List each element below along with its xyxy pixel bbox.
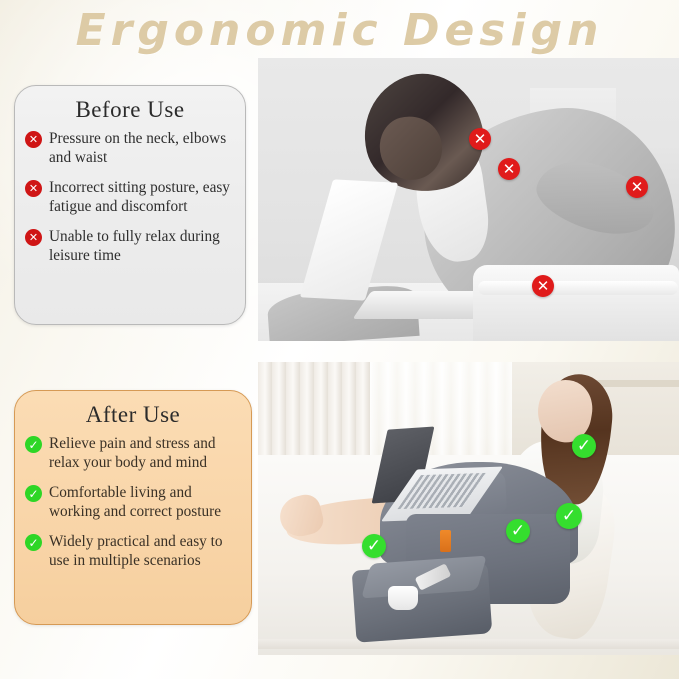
x-circle-icon: ✕ xyxy=(25,229,42,246)
before-use-panel: Before Use ✕ Pressure on the neck, elbow… xyxy=(14,85,246,325)
pain-marker-waist-icon: ✕ xyxy=(532,275,554,297)
before-use-title: Before Use xyxy=(15,97,245,123)
check-circle-icon: ✓ xyxy=(25,534,42,551)
x-glyph: ✕ xyxy=(474,132,487,147)
x-circle-icon: ✕ xyxy=(25,180,42,197)
bed-edge xyxy=(258,639,679,649)
check-circle-icon: ✓ xyxy=(25,436,42,453)
bullet-text: Incorrect sitting posture, easy fatigue … xyxy=(49,178,235,216)
check-glyph: ✓ xyxy=(367,538,381,555)
infographic-page: Ergonomic Design ✕ ✕ ✕ ✕ xyxy=(0,0,679,679)
after-use-photo: ✓ ✓ ✓ ✓ xyxy=(258,362,679,655)
cup xyxy=(388,586,418,610)
list-item: ✕ Incorrect sitting posture, easy fatigu… xyxy=(25,178,235,216)
bullet-text: Relieve pain and stress and relax your b… xyxy=(49,434,241,472)
x-glyph: ✕ xyxy=(631,180,644,195)
x-glyph: ✕ xyxy=(503,162,516,177)
bullet-text: Unable to fully relax during leisure tim… xyxy=(49,227,235,265)
benefit-marker-back-icon: ✓ xyxy=(556,503,582,529)
pain-marker-upper-back-icon: ✕ xyxy=(498,158,520,180)
x-circle-icon: ✕ xyxy=(25,131,42,148)
check-glyph: ✓ xyxy=(511,523,525,540)
photo-sofa-edge xyxy=(478,281,678,295)
before-use-bullet-list: ✕ Pressure on the neck, elbows and waist… xyxy=(15,129,245,265)
page-title: Ergonomic Design xyxy=(0,2,679,60)
before-use-photo: ✕ ✕ ✕ ✕ xyxy=(258,58,679,341)
bullet-text: Comfortable living and working and corre… xyxy=(49,483,241,521)
after-use-title: After Use xyxy=(15,402,251,428)
list-item: ✓ Relieve pain and stress and relax your… xyxy=(25,434,241,472)
benefit-marker-legs-icon: ✓ xyxy=(362,534,386,558)
x-glyph: ✕ xyxy=(29,232,38,243)
check-glyph: ✓ xyxy=(562,508,576,525)
x-glyph: ✕ xyxy=(29,134,38,145)
list-item: ✓ Widely practical and easy to use in mu… xyxy=(25,532,241,570)
bullet-text: Widely practical and easy to use in mult… xyxy=(49,532,241,570)
lap-desk-brand-tag xyxy=(440,530,451,552)
benefit-marker-neck-icon: ✓ xyxy=(572,434,596,458)
after-use-bullet-list: ✓ Relieve pain and stress and relax your… xyxy=(15,434,251,570)
bullet-text: Pressure on the neck, elbows and waist xyxy=(49,129,235,167)
list-item: ✕ Pressure on the neck, elbows and waist xyxy=(25,129,235,167)
pain-marker-neck-icon: ✕ xyxy=(469,128,491,150)
check-glyph: ✓ xyxy=(577,438,591,455)
pain-marker-elbow-icon: ✕ xyxy=(626,176,648,198)
x-glyph: ✕ xyxy=(537,279,550,294)
after-use-panel: After Use ✓ Relieve pain and stress and … xyxy=(14,390,252,625)
check-glyph: ✓ xyxy=(28,488,38,500)
check-glyph: ✓ xyxy=(28,439,38,451)
benefit-marker-arm-icon: ✓ xyxy=(506,519,530,543)
x-glyph: ✕ xyxy=(29,183,38,194)
room-curtain xyxy=(258,362,370,466)
check-glyph: ✓ xyxy=(28,537,38,549)
list-item: ✓ Comfortable living and working and cor… xyxy=(25,483,241,521)
list-item: ✕ Unable to fully relax during leisure t… xyxy=(25,227,235,265)
check-circle-icon: ✓ xyxy=(25,485,42,502)
photo-sofa xyxy=(473,265,679,341)
